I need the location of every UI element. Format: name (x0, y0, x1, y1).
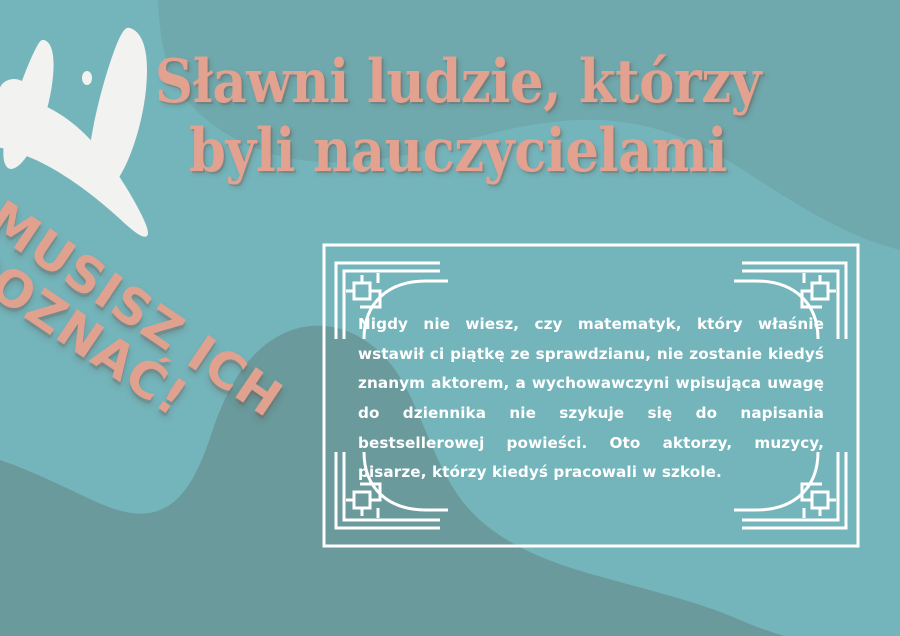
splash-dot-large (0, 79, 29, 105)
text-card: Nigdy nie wiesz, czy matematyk, który wł… (322, 243, 860, 548)
card-body-wrapper: Nigdy nie wiesz, czy matematyk, który wł… (358, 301, 824, 497)
splash-dot-small (82, 71, 92, 85)
poster-canvas: Sławni ludzie, którzy byli nauczycielami… (0, 0, 900, 636)
card-body-text: Nigdy nie wiesz, czy matematyk, który wł… (358, 310, 824, 488)
